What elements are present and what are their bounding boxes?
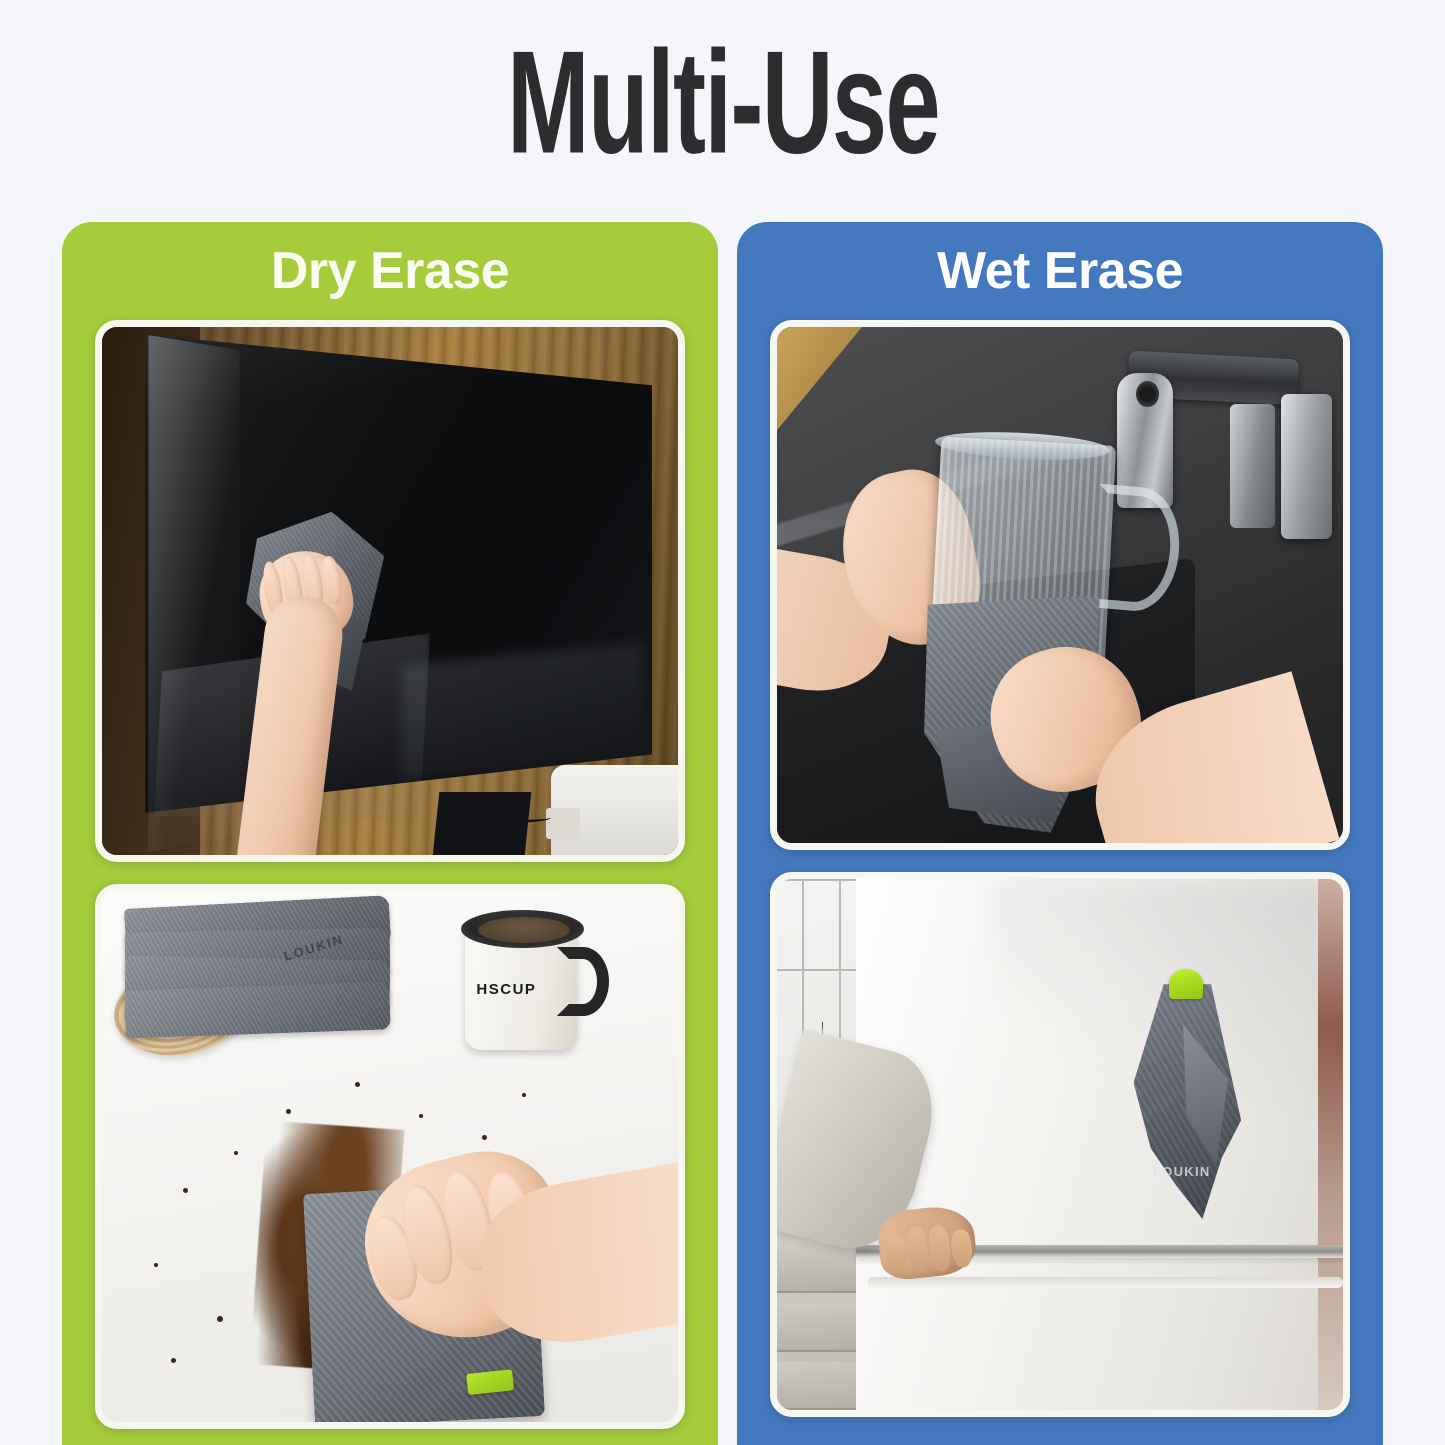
photo-tv-screen-wipe xyxy=(95,320,685,862)
fridge-lower-lip xyxy=(868,1277,1343,1288)
fridge-scene-image: LOUKIN xyxy=(777,879,1343,1410)
panel-header-dry-erase: Dry Erase xyxy=(95,222,685,320)
tv-stand xyxy=(433,792,532,855)
cabinet-drawer xyxy=(777,1362,859,1410)
folded-towel xyxy=(124,982,390,1039)
towel-brand-logo: LOUKIN xyxy=(1153,1164,1211,1179)
cabinet-drawer xyxy=(777,1245,859,1293)
finger xyxy=(884,1234,908,1276)
coffee-speck xyxy=(419,1114,423,1118)
towel-green-tag xyxy=(467,1370,515,1396)
tile-grout-line xyxy=(777,969,868,971)
sink-scene-image xyxy=(777,327,1343,843)
panel-dry-erase: Dry Erase xyxy=(62,222,718,1445)
mug-handle xyxy=(557,947,609,1016)
background-wall xyxy=(1318,879,1343,1410)
faucet-opening xyxy=(1136,381,1159,407)
panel-title-dry-erase: Dry Erase xyxy=(271,241,509,301)
page-title: Multi-Use xyxy=(507,29,939,175)
panel-title-wet-erase: Wet Erase xyxy=(937,241,1183,301)
faucet-spout xyxy=(1281,394,1332,538)
folded-towel-stack: LOUKIN xyxy=(125,902,390,1051)
comparison-panels: Dry Erase xyxy=(0,222,1445,1445)
finger xyxy=(927,1225,952,1272)
coffee-speck xyxy=(217,1316,223,1322)
photo-fridge-hanging-towel: LOUKIN xyxy=(770,872,1350,1417)
mug-label: HSCUP xyxy=(476,981,536,998)
panel-wet-erase: Wet Erase xyxy=(737,222,1383,1445)
panel-header-wet-erase: Wet Erase xyxy=(770,222,1350,320)
faucet-spout-back xyxy=(1230,404,1275,528)
photo-coffee-grounds-wipe: LOUKIN HSCUP xyxy=(95,884,685,1429)
cabinet-drawer xyxy=(777,1304,859,1352)
photo-glass-mug-dry xyxy=(770,320,1350,850)
towel-magnetic-green-corner xyxy=(1169,969,1203,999)
page-title-bar: Multi-Use xyxy=(0,0,1445,205)
screen-reflection-secondary xyxy=(402,644,644,781)
hanging-microfiber-towel: LOUKIN xyxy=(1134,969,1242,1219)
tv-scene-image xyxy=(102,327,678,855)
coffee-mug: HSCUP xyxy=(465,907,609,1050)
tile-grout-line xyxy=(777,879,868,881)
mug-coffee-surface xyxy=(478,917,570,943)
coffee-scene-image: LOUKIN HSCUP xyxy=(102,891,678,1422)
finger xyxy=(905,1226,930,1273)
coffee-speck xyxy=(154,1263,158,1267)
